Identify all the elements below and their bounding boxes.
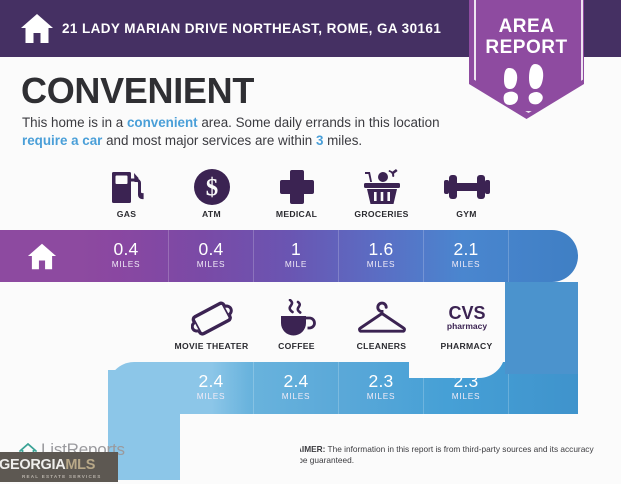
distance-cell-coffee: 2.4 MILES (254, 362, 339, 414)
dumbbell-icon (424, 166, 509, 208)
grocery-basket-icon (339, 166, 424, 208)
category-medical: MEDICAL (254, 166, 339, 219)
area-report-badge-text: AREA REPORT (469, 16, 584, 58)
badge-line-1: AREA (469, 16, 584, 37)
distance-unit: MILES (424, 259, 508, 269)
category-cleaners: CLEANERS (339, 298, 424, 351)
distance-value: 0.4 (84, 230, 168, 258)
distance-unit: MILES (424, 391, 508, 401)
coffee-cup-icon (254, 298, 339, 340)
distance-cell-movie-theater: 2.4 MILES (169, 362, 254, 414)
distance-unit: MILES (254, 391, 338, 401)
category-label: CLEANERS (339, 341, 424, 351)
movie-ticket-icon (169, 298, 254, 340)
category-atm: $ ATM (169, 166, 254, 219)
distance-cell-medical: 1 MILE (254, 230, 339, 282)
address-text: 21 LADY MARIAN DRIVE NORTHEAST, ROME, GA… (62, 0, 441, 57)
category-gym: GYM (424, 166, 509, 219)
distance-unit: MILES (339, 259, 423, 269)
distance-unit: MILES (169, 391, 253, 401)
icon-row-2: MOVIE THEATER COFFEE CLEANERS CVS pharma… (0, 298, 621, 360)
clothes-hanger-icon (339, 298, 424, 340)
intro-highlight-convenient: convenient (127, 115, 198, 130)
home-icon (20, 12, 54, 45)
distance-value: 2.4 (254, 362, 338, 390)
category-label: GYM (424, 209, 509, 219)
cvs-pharmacy-icon: CVS pharmacy (424, 298, 509, 340)
gas-pump-icon (84, 166, 169, 208)
distance-cell-gym: 2.1 MILES (424, 230, 509, 282)
badge-line-2: REPORT (469, 37, 584, 58)
category-movie-theater: MOVIE THEATER (169, 298, 254, 351)
svg-text:CVS: CVS (448, 303, 485, 323)
category-label: MOVIE THEATER (169, 341, 254, 351)
svg-text:pharmacy: pharmacy (446, 321, 486, 331)
georgia-mls-logo: GEORGIAMLS REAL ESTATE SERVICES (0, 452, 118, 482)
icon-row-1: GAS $ ATM MEDICAL (0, 166, 621, 228)
distance-value: 2.4 (169, 362, 253, 390)
distance-value: 2.1 (424, 230, 508, 258)
georgia-mls-accent: MLS (65, 457, 95, 473)
home-icon (0, 230, 84, 282)
intro-highlight-require-a-car: require a car (22, 133, 102, 148)
category-label: ATM (169, 209, 254, 219)
category-gas: GAS (84, 166, 169, 219)
category-label: GAS (84, 209, 169, 219)
distance-value: 1 (254, 230, 338, 258)
georgia-mls-tagline: REAL ESTATE SERVICES (22, 474, 102, 479)
distance-cell-gas: 0.4 MILES (84, 230, 169, 282)
bar-connector-left (108, 370, 180, 480)
distance-value: 0.4 (169, 230, 253, 258)
category-pharmacy: CVS pharmacy PHARMACY (424, 298, 509, 351)
category-label: PHARMACY (424, 341, 509, 351)
bar-connector-left-notch (180, 414, 300, 484)
distance-value: 1.6 (339, 230, 423, 258)
footprints-icon (495, 62, 557, 108)
disclaimer-text: DISCLAIMER: The information in this repo… (271, 444, 599, 466)
category-coffee: COFFEE (254, 298, 339, 351)
distance-unit: MILE (254, 259, 338, 269)
category-label: GROCERIES (339, 209, 424, 219)
svg-text:$: $ (205, 175, 218, 202)
distance-bar-row-1: 0.4 MILES 0.4 MILES 1 MILE 1.6 MILES 2.1… (0, 230, 578, 282)
intro-part-2: area. Some daily errands in this locatio… (198, 115, 440, 130)
intro-part-1: This home is in a (22, 115, 127, 130)
intro-paragraph: This home is in a convenient area. Some … (22, 114, 452, 149)
distance-unit: MILES (169, 259, 253, 269)
category-label: COFFEE (254, 341, 339, 351)
intro-part-3: and most major services are within (102, 133, 316, 148)
georgia-mls-main: GEORGIA (0, 457, 65, 473)
georgia-mls-wordmark: GEORGIAMLS (0, 457, 95, 473)
category-label: MEDICAL (254, 209, 339, 219)
distance-cell-groceries: 1.6 MILES (339, 230, 424, 282)
dollar-circle-icon: $ (169, 166, 254, 208)
distance-unit: MILES (84, 259, 168, 269)
page-title: CONVENIENT (21, 70, 254, 112)
medical-cross-icon (254, 166, 339, 208)
category-groceries: GROCERIES (339, 166, 424, 219)
distance-cell-atm: 0.4 MILES (169, 230, 254, 282)
distance-unit: MILES (339, 391, 423, 401)
intro-part-4: miles. (323, 133, 362, 148)
